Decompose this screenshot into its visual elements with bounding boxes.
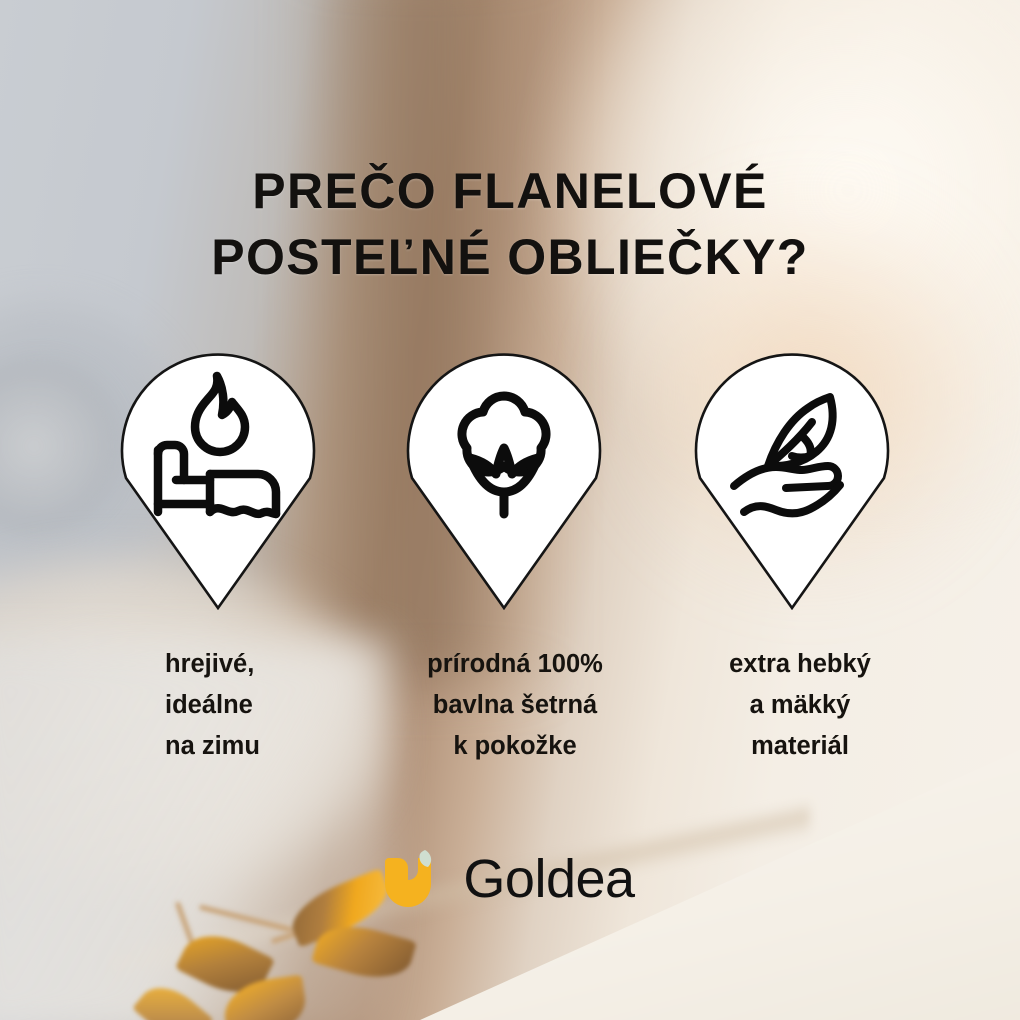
brand-logo: Goldea: [0, 840, 1020, 918]
caption-1-line-2: ideálne: [165, 685, 415, 726]
caption-2-line-1: prírodná 100%: [390, 644, 640, 685]
feature-pin-1: [118, 352, 318, 610]
feature-captions-row: hrejivé, ideálne na zimu prírodná 100% b…: [0, 644, 1020, 774]
feature-caption-3: extra hebký a mäkký materiál: [675, 644, 925, 767]
caption-3-line-2: a mäkký: [675, 685, 925, 726]
headline-line-1: PREČO FLANELOVÉ: [0, 158, 1020, 224]
caption-3-line-1: extra hebký: [675, 644, 925, 685]
caption-3-line-3: materiál: [675, 726, 925, 767]
goldea-tulip-logo-icon: [385, 848, 443, 910]
brand-name: Goldea: [463, 852, 634, 906]
feature-pins-row: [0, 352, 1020, 622]
feature-caption-1: hrejivé, ideálne na zimu: [165, 644, 415, 767]
promo-poster: PREČO FLANELOVÉ POSTEĽNÉ OBLIEČKY?: [0, 0, 1020, 1020]
pin-shape-3: [696, 355, 888, 608]
caption-2-line-3: k pokožke: [390, 726, 640, 767]
feature-pin-3: [692, 352, 892, 610]
feature-caption-2: prírodná 100% bavlna šetrná k pokožke: [390, 644, 640, 767]
caption-1-line-3: na zimu: [165, 726, 415, 767]
headline: PREČO FLANELOVÉ POSTEĽNÉ OBLIEČKY?: [0, 158, 1020, 290]
caption-1-line-1: hrejivé,: [165, 644, 415, 685]
headline-line-2: POSTEĽNÉ OBLIEČKY?: [0, 224, 1020, 290]
caption-2-line-2: bavlna šetrná: [390, 685, 640, 726]
feature-pin-2: [404, 352, 604, 610]
